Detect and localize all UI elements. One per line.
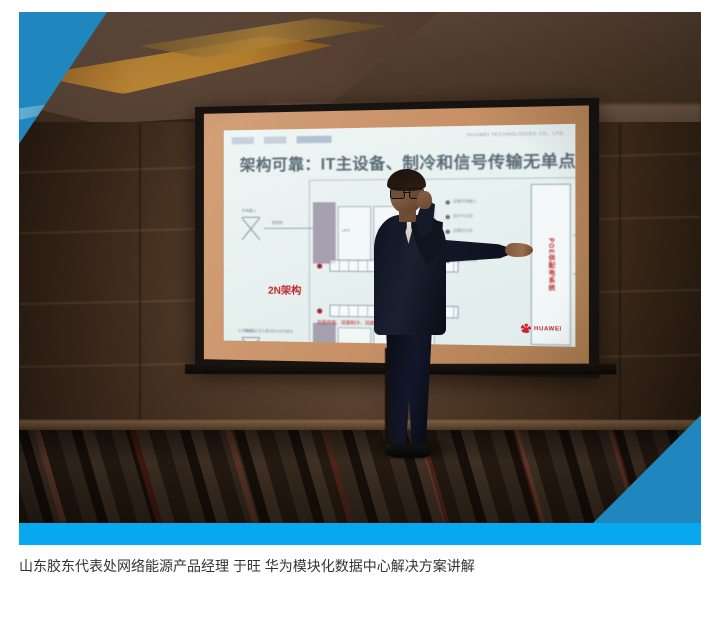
slide-footnote: 注：图中仅示意主要供电与信号路径 xyxy=(238,328,293,334)
diagram-label-utility: 市电输入 xyxy=(242,209,256,214)
wall-panel-edge xyxy=(619,124,621,424)
huawei-wordmark: HUAWEI xyxy=(534,325,562,332)
room-interior: HUAWEI TECHNOLOGIES CO., LTD. 架构可靠：IT主设备… xyxy=(19,12,701,545)
power-line xyxy=(264,228,313,229)
photo-caption: 山东胶东代表处网络能源产品经理 于旺 华为模块化数据中心解决方案讲解 xyxy=(19,556,703,576)
slide-tab-3 xyxy=(297,136,332,144)
accent-bottom-bar xyxy=(19,523,701,545)
presenter-shoes xyxy=(385,444,431,458)
slide-tab-strip xyxy=(232,136,332,145)
diagram-label-feed: 配电柜 xyxy=(272,221,283,226)
conference-photo: HUAWEI TECHNOLOGIES CO., LTD. 架构可靠：IT主设备… xyxy=(19,12,701,545)
huawei-logo: HUAWEI xyxy=(521,324,562,334)
utility-tower-icon xyxy=(242,338,260,347)
glasses-lens-left xyxy=(390,188,405,199)
huawei-flower-icon xyxy=(521,324,531,334)
slide-tab-2 xyxy=(264,136,286,143)
slide-watermark: HUAWEI TECHNOLOGIES CO., LTD. xyxy=(467,130,565,137)
presenter-pointing-hand xyxy=(505,243,533,257)
architecture-label: 2N架构 xyxy=(268,282,301,298)
slide-tab-1 xyxy=(232,137,254,144)
diagram-label-feed: 配电柜 xyxy=(272,341,283,346)
presenter-mic-hand xyxy=(417,191,432,209)
wall-panel-edge xyxy=(139,124,141,424)
utility-tower-icon xyxy=(242,218,260,240)
